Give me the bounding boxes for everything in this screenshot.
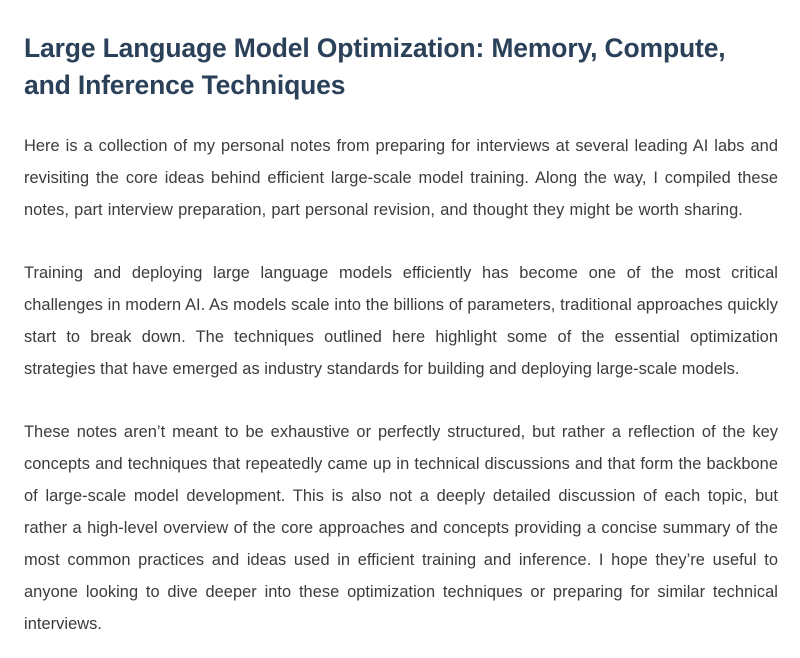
article-page: Large Language Model Optimization: Memor…	[0, 0, 800, 658]
paragraph-intro: Here is a collection of my personal note…	[24, 130, 778, 226]
paragraph-scope: These notes aren’t meant to be exhaustiv…	[24, 416, 778, 640]
paragraph-motivation: Training and deploying large language mo…	[24, 257, 778, 385]
article-body: Here is a collection of my personal note…	[24, 104, 778, 640]
page-title: Large Language Model Optimization: Memor…	[24, 0, 778, 104]
